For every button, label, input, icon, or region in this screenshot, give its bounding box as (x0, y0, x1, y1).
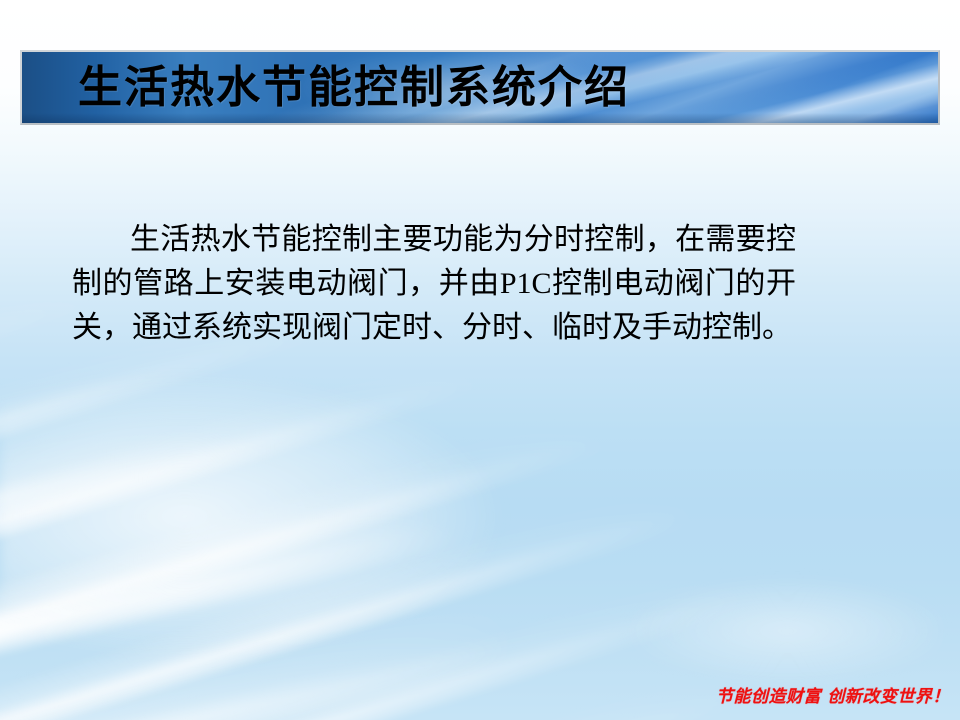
footer-slogan: 节能创造财富 创新改变世界！ (716, 686, 954, 708)
slide-body-paragraph: 生活热水节能控制主要功能为分时控制，在需要控制的管路上安装电动阀门，并由P1C控… (72, 218, 796, 350)
banner-bottom-shadow (22, 113, 938, 123)
slide-title: 生活热水节能控制系统介绍 (78, 66, 630, 110)
presentation-slide: 生活热水节能控制系统介绍 生活热水节能控制主要功能为分时控制，在需要控制的管路上… (0, 0, 960, 720)
title-banner: 生活热水节能控制系统介绍 (20, 50, 940, 125)
